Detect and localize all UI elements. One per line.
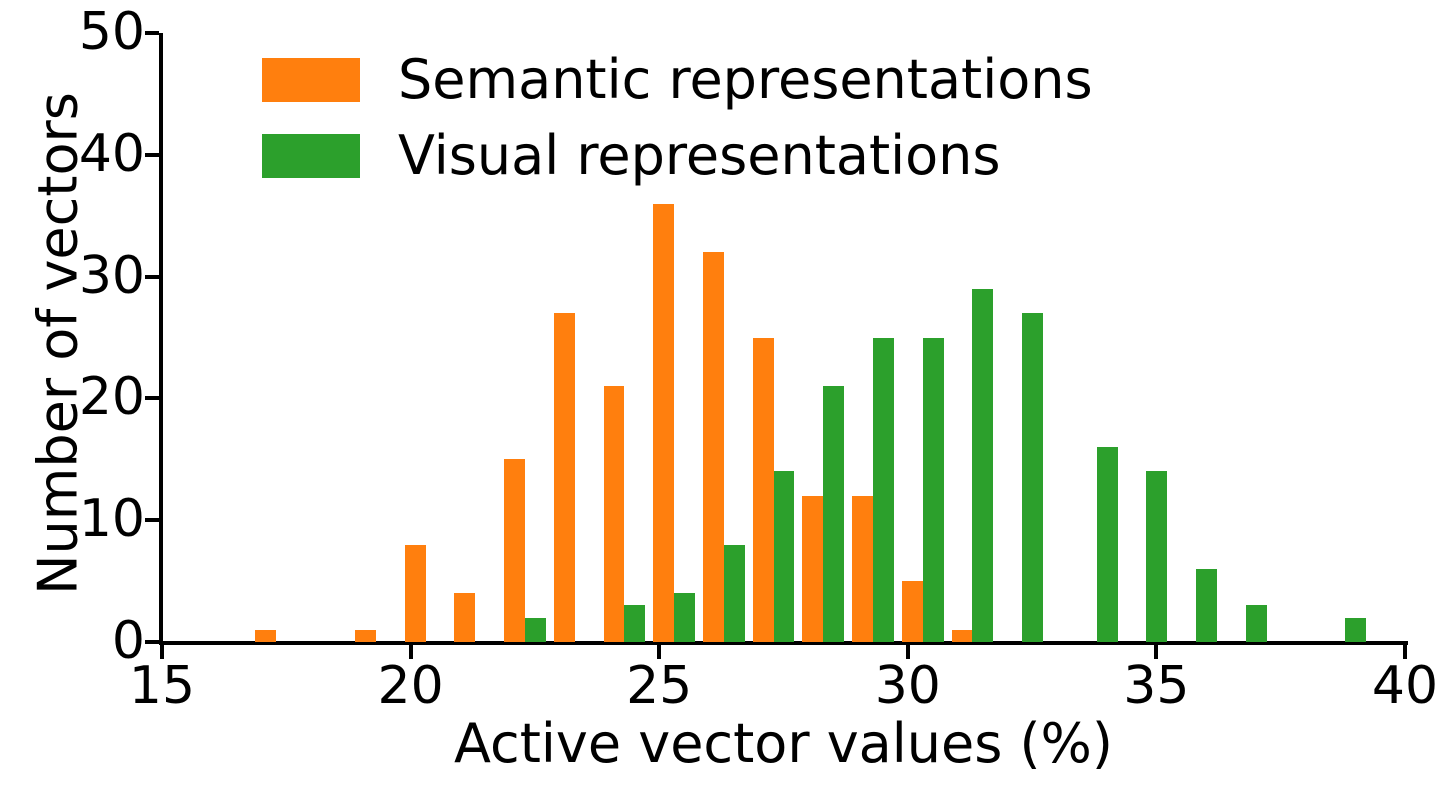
histogram-bar xyxy=(405,545,426,642)
y-tick-mark xyxy=(145,31,159,35)
histogram-bar xyxy=(774,471,795,642)
histogram-bar xyxy=(972,289,993,642)
histogram-bar xyxy=(753,338,774,643)
histogram-bar xyxy=(1097,447,1118,642)
histogram-bar xyxy=(923,338,944,643)
histogram-bar xyxy=(873,338,894,643)
histogram-bar xyxy=(1246,605,1267,642)
x-tick-label: 35 xyxy=(1123,660,1189,712)
legend-swatch-visual xyxy=(262,134,360,178)
histogram-bar xyxy=(724,545,745,642)
histogram-bar xyxy=(674,593,695,642)
histogram-bar xyxy=(1196,569,1217,642)
histogram-bar xyxy=(852,496,873,642)
y-tick-mark xyxy=(145,640,159,644)
histogram-bar xyxy=(1345,618,1366,642)
chart-legend: Semantic representations Visual represen… xyxy=(262,42,1093,194)
histogram-bar xyxy=(952,630,973,642)
histogram-bar xyxy=(504,459,525,642)
histogram-bar xyxy=(802,496,823,642)
legend-item-visual: Visual representations xyxy=(262,118,1093,194)
x-tick-label: 40 xyxy=(1372,660,1438,712)
y-tick-mark xyxy=(145,518,159,522)
legend-label-semantic: Semantic representations xyxy=(398,53,1093,107)
histogram-bar xyxy=(454,593,475,642)
histogram-bar xyxy=(653,204,674,642)
y-tick-mark xyxy=(145,153,159,157)
histogram-bar xyxy=(554,313,575,642)
histogram-bar xyxy=(624,605,645,642)
histogram-bar xyxy=(1022,313,1043,642)
y-tick-mark xyxy=(145,396,159,400)
x-tick-label: 20 xyxy=(378,660,444,712)
histogram-bar xyxy=(902,581,923,642)
legend-swatch-semantic xyxy=(262,58,360,102)
y-tick-mark xyxy=(145,275,159,279)
histogram-bar xyxy=(355,630,376,642)
histogram-figure: 01020304050 152025303540 Number of vecto… xyxy=(0,0,1453,789)
legend-label-visual: Visual representations xyxy=(398,129,1001,183)
legend-item-semantic: Semantic representations xyxy=(262,42,1093,118)
histogram-bar xyxy=(1146,471,1167,642)
y-axis-title: Number of vectors xyxy=(27,34,90,654)
x-tick-label: 25 xyxy=(626,660,692,712)
histogram-bar xyxy=(703,252,724,642)
x-tick-label: 30 xyxy=(875,660,941,712)
histogram-bar xyxy=(823,386,844,642)
histogram-bar xyxy=(255,630,276,642)
x-axis-title: Active vector values (%) xyxy=(162,712,1405,775)
x-tick-label: 15 xyxy=(129,660,195,712)
histogram-bar xyxy=(604,386,625,642)
histogram-bar xyxy=(525,618,546,642)
